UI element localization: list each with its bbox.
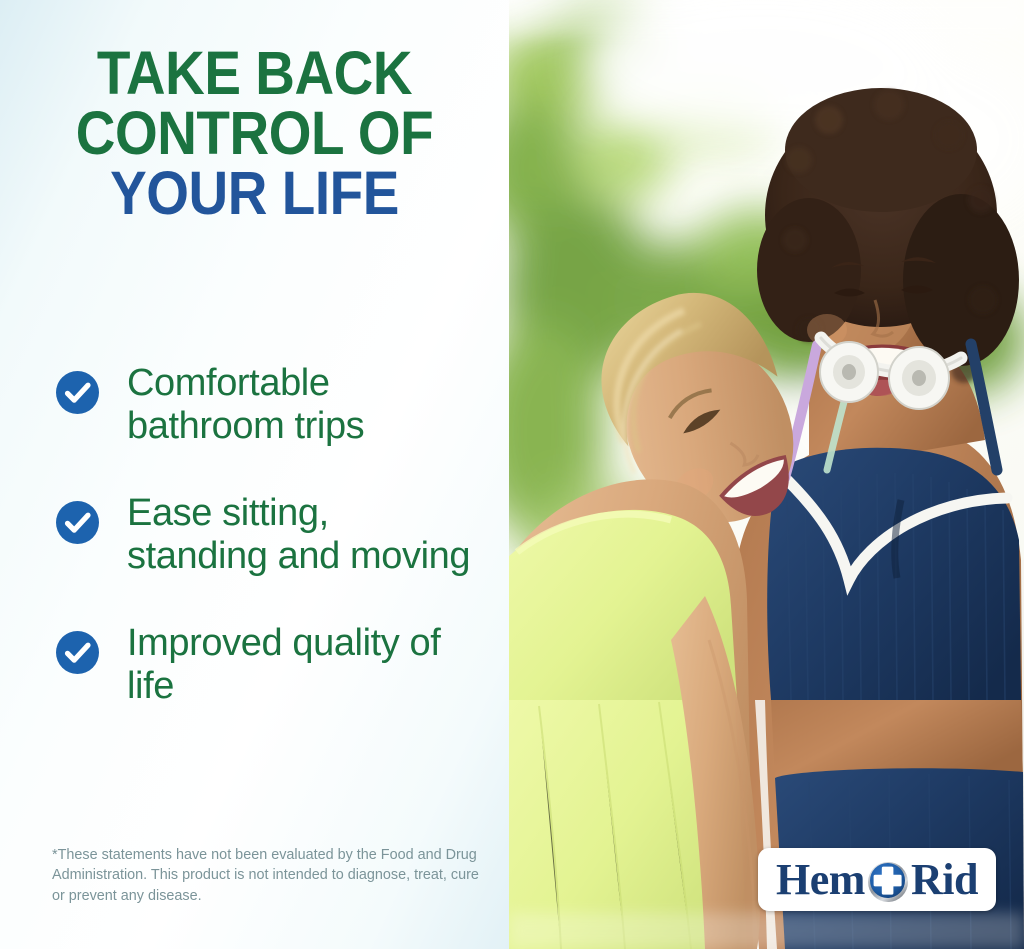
content-panel: TAKE BACK CONTROL OF YOUR LIFE Comfortab… <box>0 0 509 949</box>
page-title: TAKE BACK CONTROL OF YOUR LIFE <box>25 44 483 223</box>
benefit-text: Comfortable bathroom trips <box>127 362 479 447</box>
hero-photo <box>509 0 1024 949</box>
check-circle-icon <box>56 501 99 544</box>
promotional-banner: TAKE BACK CONTROL OF YOUR LIFE Comfortab… <box>0 0 1024 949</box>
benefit-text: Improved quality of life <box>127 622 479 707</box>
headline-line-2: CONTROL OF <box>25 104 483 164</box>
logo-inner: Hem <box>776 858 978 902</box>
brand-logo[interactable]: Hem <box>758 848 996 911</box>
logo-text-right: Rid <box>911 858 978 902</box>
hero-photo-image <box>509 0 1024 949</box>
benefit-text: Ease sitting, standing and moving <box>127 492 479 577</box>
logo-text-left: Hem <box>776 858 865 902</box>
legal-disclaimer: *These statements have not been evaluate… <box>52 845 482 906</box>
list-item: Improved quality of life <box>56 622 496 707</box>
benefits-list: Comfortable bathroom trips Ease sitting,… <box>56 362 496 707</box>
list-item: Comfortable bathroom trips <box>56 362 496 447</box>
check-circle-icon <box>56 371 99 414</box>
list-item: Ease sitting, standing and moving <box>56 492 496 577</box>
headline-line-3: YOUR LIFE <box>25 164 483 224</box>
check-circle-icon <box>56 631 99 674</box>
medical-cross-emblem-icon <box>866 859 910 903</box>
headline-line-1: TAKE BACK <box>25 44 483 104</box>
